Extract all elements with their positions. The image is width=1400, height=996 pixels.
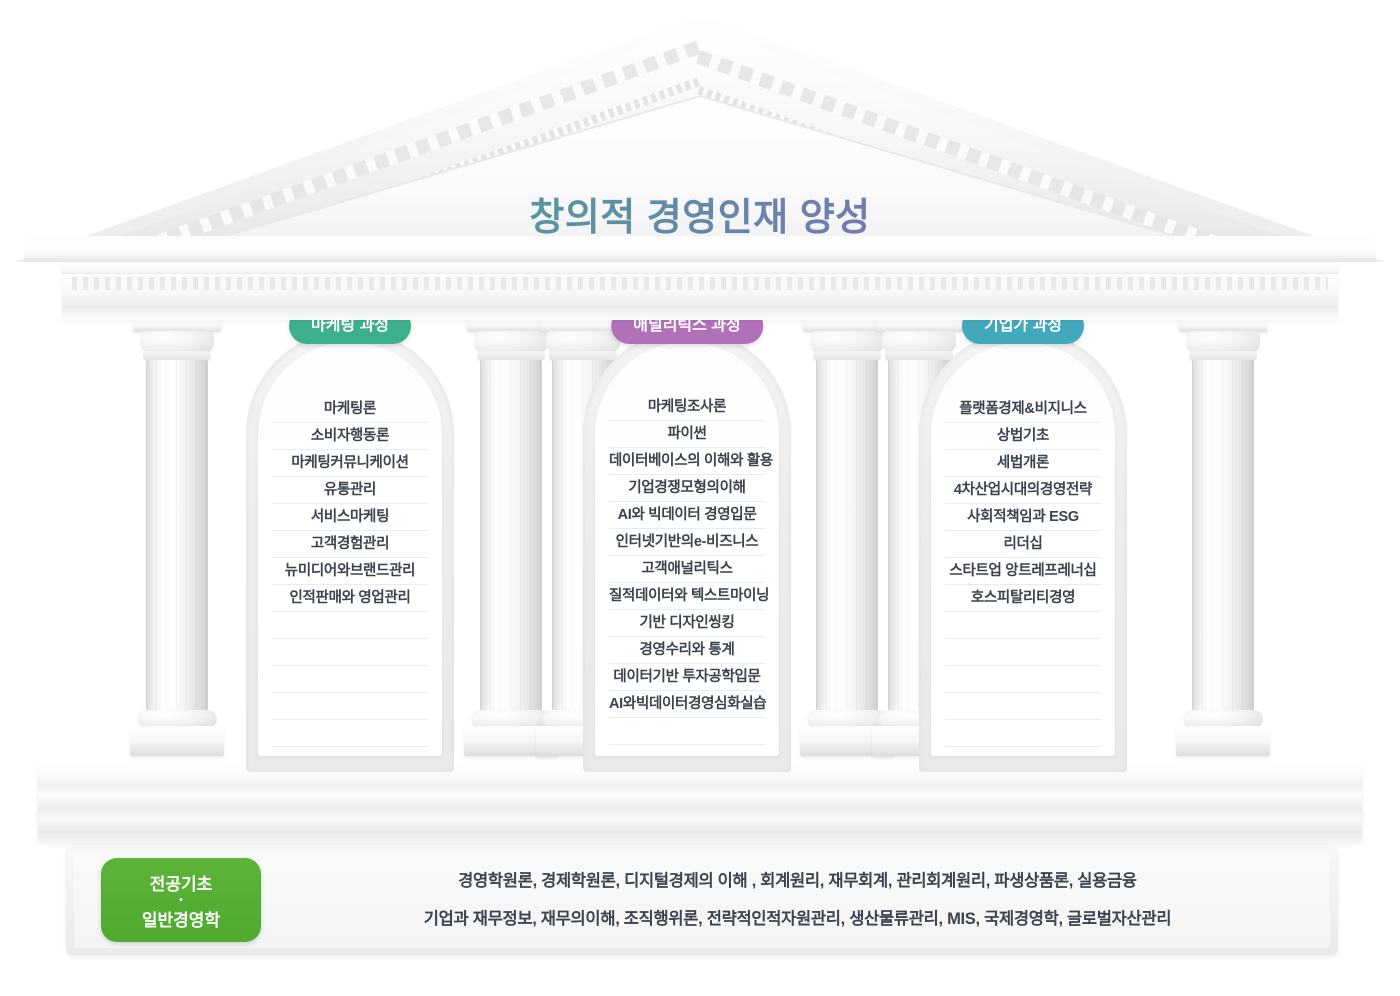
course-item: AI와 빅데이터 경영입문	[609, 502, 765, 529]
course-item: 유통관리	[272, 477, 428, 504]
course-item: 인터넷기반의e-비즈니스	[609, 529, 765, 556]
entablature-top-fillet	[62, 262, 1338, 274]
column-plinth	[1176, 726, 1270, 756]
column-capital	[133, 318, 221, 332]
foundation-badge-line2: 일반경영학	[101, 906, 261, 931]
course-item-empty	[272, 666, 428, 693]
foundation-course-text: 경영학원론, 경제학원론, 디지털경제의 이해 , 회계원리, 재무회계, 관리…	[281, 862, 1314, 938]
course-item: 고객애널리틱스	[609, 556, 765, 583]
course-item-empty	[272, 720, 428, 747]
course-item-empty	[945, 666, 1101, 693]
course-item: 상법기초	[945, 423, 1101, 450]
course-item: 호스피탈리티경영	[945, 585, 1101, 612]
column-capital	[1179, 318, 1267, 332]
course-item-empty	[272, 612, 428, 639]
course-list-entrepreneur: 플랫폼경제&비지니스상법기초세법개론4차산업시대의경영전략사회적책임과 ESG리…	[945, 396, 1101, 747]
course-item: 마케팅커뮤니케이션	[272, 450, 428, 477]
course-item: 플랫폼경제&비지니스	[945, 396, 1101, 423]
arch-niche-inner: 마케팅조사론파이썬데이터베이스의 이해와 활용기업경쟁모형의이해AI와 빅데이터…	[595, 342, 779, 756]
track-panel-entrepreneur: 플랫폼경제&비지니스상법기초세법개론4차산업시대의경영전략사회적책임과 ESG리…	[919, 330, 1127, 772]
course-item-empty	[272, 693, 428, 720]
course-item-empty	[945, 639, 1101, 666]
course-item: 데이터베이스의 이해와 활용	[609, 448, 765, 475]
course-item: 파이썬	[609, 421, 765, 448]
course-item: 소비자행동론	[272, 423, 428, 450]
page-title: 창의적 경영인재 양성	[0, 186, 1400, 241]
course-item: 기반 디자인씽킹	[609, 610, 765, 637]
foundation-badge[interactable]: 전공기초 • 일반경영학	[101, 858, 261, 942]
column-2	[480, 318, 542, 770]
course-item: 경영수리와 통계	[609, 637, 765, 664]
column-6	[1192, 318, 1254, 770]
column-shaft	[816, 360, 878, 712]
course-item: 마케팅조사론	[609, 394, 765, 421]
course-item: 세법개론	[945, 450, 1101, 477]
column-plinth	[130, 726, 224, 756]
course-item: 질적데이터와 텍스트마이닝	[609, 583, 765, 610]
course-item: 데이터기반 투자공학입문	[609, 664, 765, 691]
foundation-badge-line1: 전공기초	[101, 870, 261, 895]
course-item: AI와빅데이터경영심화실습	[609, 691, 765, 718]
course-item: 인적판매와 영업관리	[272, 585, 428, 612]
course-list-analytics: 마케팅조사론파이썬데이터베이스의 이해와 활용기업경쟁모형의이해AI와 빅데이터…	[609, 394, 765, 745]
entablature-band	[62, 262, 1338, 320]
foundation-line-1: 경영학원론, 경제학원론, 디지털경제의 이해 , 회계원리, 재무회계, 관리…	[281, 862, 1314, 900]
course-item: 기업경쟁모형의이해	[609, 475, 765, 502]
track-panel-analytics: 마케팅조사론파이썬데이터베이스의 이해와 활용기업경쟁모형의이해AI와 빅데이터…	[583, 330, 791, 772]
course-item: 사회적책임과 ESG	[945, 504, 1101, 531]
column-shaft	[1192, 360, 1254, 712]
column-1	[146, 318, 208, 770]
course-item: 고객경험관리	[272, 531, 428, 558]
column-shaft	[146, 360, 208, 712]
course-item-empty	[945, 612, 1101, 639]
course-item-empty	[272, 639, 428, 666]
course-list-marketing: 마케팅론소비자행동론마케팅커뮤니케이션유통관리서비스마케팅고객경험관리뉴미디어와…	[272, 396, 428, 747]
arch-niche-inner: 마케팅론소비자행동론마케팅커뮤니케이션유통관리서비스마케팅고객경험관리뉴미디어와…	[258, 342, 442, 756]
infographic-canvas: 창의적 경영인재 양성	[0, 0, 1400, 996]
course-item-empty	[609, 718, 765, 745]
column-echinus	[810, 331, 884, 353]
course-item: 뉴미디어와브랜드관리	[272, 558, 428, 585]
entablature-dentil-row	[72, 277, 1328, 290]
course-item-empty	[945, 693, 1101, 720]
course-item: 서비스마케팅	[272, 504, 428, 531]
track-panel-marketing: 마케팅론소비자행동론마케팅커뮤니케이션유통관리서비스마케팅고객경험관리뉴미디어와…	[246, 330, 454, 772]
foundation-line-2: 기업과 재무정보, 재무의이해, 조직행위론, 전략적인적자원관리, 생산물류관…	[281, 900, 1314, 938]
foundation-badge-dot: •	[101, 896, 261, 905]
foundation-bar: 전공기초 • 일반경영학 경영학원론, 경제학원론, 디지털경제의 이해 , 회…	[66, 845, 1338, 955]
arch-niche-inner: 플랫폼경제&비지니스상법기초세법개론4차산업시대의경영전략사회적책임과 ESG리…	[931, 342, 1115, 756]
entablature-bottom-fillet	[62, 306, 1338, 320]
column-echinus	[474, 331, 548, 353]
column-echinus	[1186, 331, 1260, 353]
course-item: 리더십	[945, 531, 1101, 558]
stylobate-platform	[38, 762, 1362, 842]
column-4	[816, 318, 878, 770]
course-item-empty	[945, 720, 1101, 747]
course-item: 4차산업시대의경영전략	[945, 477, 1101, 504]
course-item: 마케팅론	[272, 396, 428, 423]
column-shaft	[480, 360, 542, 712]
course-item: 스타트업 앙트레프레너십	[945, 558, 1101, 585]
column-echinus	[140, 331, 214, 353]
